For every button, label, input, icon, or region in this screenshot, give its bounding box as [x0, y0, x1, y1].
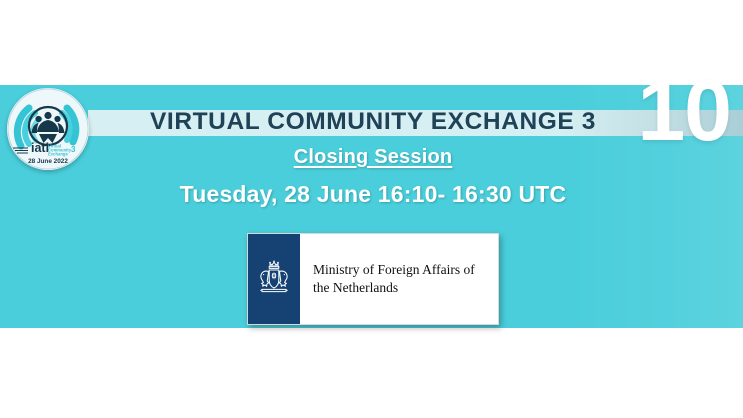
ministry-crest-panel	[248, 234, 300, 324]
page-title: VIRTUAL COMMUNITY EXCHANGE 3	[88, 104, 658, 140]
session-label: Closing Session	[294, 146, 453, 169]
svg-text:Exchange: Exchange	[48, 152, 68, 157]
session-info: Closing Session Tuesday, 28 June 16:10- …	[88, 146, 658, 208]
session-datetime: Tuesday, 28 June 16:10- 16:30 UTC	[88, 181, 658, 208]
iati-logo: iati Virtual Community Exchange 3 28 Jun…	[7, 88, 89, 170]
presentation-slide: iati Virtual Community Exchange 3 28 Jun…	[0, 0, 743, 418]
svg-text:3: 3	[71, 145, 76, 154]
svg-text:28 June 2022: 28 June 2022	[28, 158, 68, 165]
sponsor-logo: Ministry of Foreign Affairs of the Nethe…	[247, 233, 499, 325]
session-label-wrapper: Closing Session	[88, 146, 658, 169]
session-number-badge: 10	[637, 68, 731, 154]
ministry-name: Ministry of Foreign Affairs of the Nethe…	[300, 234, 498, 324]
ministry-name-text: Ministry of Foreign Affairs of the Nethe…	[313, 261, 492, 297]
ministry-name-line-2: Netherlands	[333, 280, 398, 295]
svg-text:iati: iati	[31, 141, 49, 155]
netherlands-coat-of-arms-icon	[254, 256, 294, 302]
iati-logo-graphic: iati Virtual Community Exchange 3 28 Jun…	[7, 88, 89, 170]
